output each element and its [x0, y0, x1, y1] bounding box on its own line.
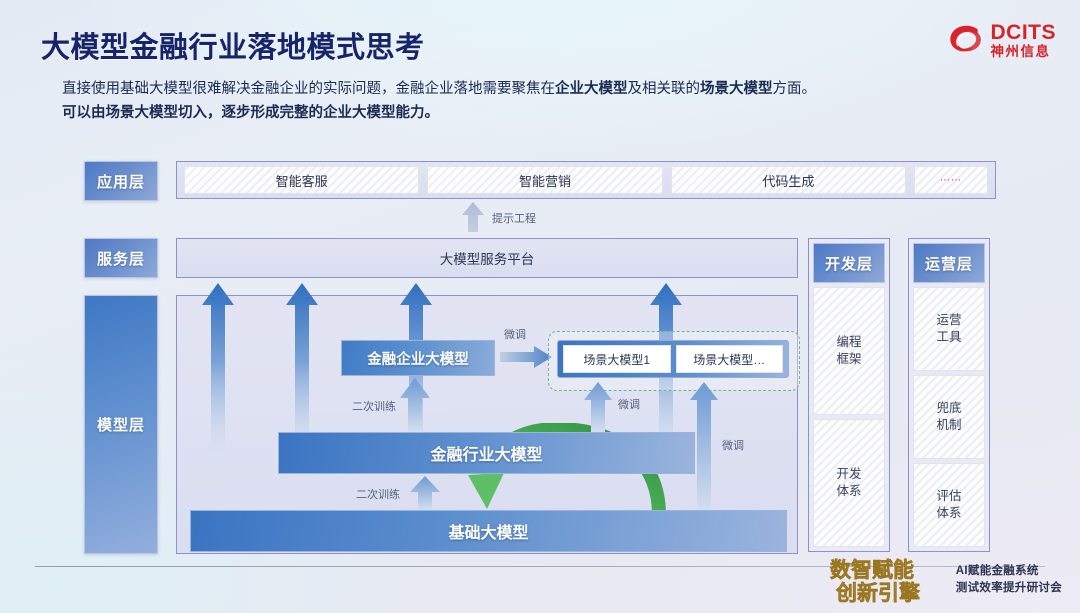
label-prompt-engineering: 提示工程: [492, 210, 536, 226]
ops-cell-2-line-2: 机制: [936, 417, 961, 434]
box-enterprise-model[interactable]: 金融企业大模型: [341, 340, 495, 376]
footer-text-line-1: AI赋能金融系统: [956, 563, 1062, 580]
dev-layer-column: 开发层 编程 框架 开发 体系: [808, 238, 890, 552]
event-logo-line-1: 数智赋能: [830, 558, 914, 582]
ops-cell-1-line-2: 工具: [936, 329, 961, 346]
scene-model-group: 场景大模型1 场景大模型…: [557, 340, 789, 378]
ops-layer-column: 运营层 运营 工具 兜底 机制 评估 体系: [908, 238, 990, 552]
brand-logo: DCITS 神州信息: [948, 22, 1057, 59]
ops-cell-3-line-1: 评估: [936, 488, 961, 505]
arrow-enterprise-to-scene: [500, 346, 552, 368]
label-retrain-1: 二次训练: [352, 398, 396, 414]
arrow-prompt-engineering: [462, 202, 484, 232]
subtitle-line-2: 可以由场景大模型切入，逐步形成完整的企业大模型能力。: [62, 101, 1002, 125]
logo-en: DCITS: [991, 22, 1057, 43]
dev-cell-1-line-1: 编程: [836, 334, 861, 351]
dev-cell-2-line-1: 开发: [836, 466, 861, 483]
box-industry-model[interactable]: 金融行业大模型: [278, 432, 695, 474]
subtitle-seg-4: 场景大模型: [700, 81, 773, 97]
logo-text: DCITS 神州信息: [991, 22, 1057, 59]
architecture-diagram: 应用层 服务层 模型层 智能客服 智能营销 代码生成 ⋯⋯ 提示工程 大模型服务…: [0, 150, 1080, 562]
label-finetune-3: 微调: [722, 437, 744, 453]
label-finetune-1: 微调: [504, 326, 526, 342]
ops-cell-fallback-mechanism[interactable]: 兜底 机制: [913, 375, 985, 459]
label-finetune-2: 微调: [618, 396, 640, 412]
layer-tag-model: 模型层: [84, 295, 158, 554]
arrow-industry-to-scene-1: [584, 382, 612, 434]
dev-cell-1-line-2: 框架: [836, 351, 861, 368]
scene-box-1[interactable]: 场景大模型1: [563, 345, 671, 373]
ops-cell-2-line-1: 兜底: [936, 400, 961, 417]
event-gold-logo: 数智赋能 创新引擎: [828, 555, 946, 605]
service-platform-label: 大模型服务平台: [440, 248, 535, 268]
app-box-marketing[interactable]: 智能营销: [427, 166, 662, 194]
footer: 数智赋能 创新引擎 AI赋能金融系统 测试效率提升研讨会: [828, 555, 1062, 605]
layer-tag-application: 应用层: [84, 161, 158, 201]
arrow-model-to-service-1: [202, 283, 234, 458]
ops-cell-3-line-2: 体系: [936, 505, 961, 522]
subtitle-seg-2: 企业大模型: [555, 81, 628, 97]
app-box-customer-service[interactable]: 智能客服: [184, 166, 419, 194]
application-layer-panel: 智能客服 智能营销 代码生成 ⋯⋯: [176, 161, 996, 199]
arrow-industry-to-enterprise: [400, 378, 430, 434]
ops-layer-head: 运营层: [913, 243, 985, 283]
dev-cell-programming-framework[interactable]: 编程 框架: [813, 287, 885, 415]
app-box-code-generation[interactable]: 代码生成: [671, 166, 906, 194]
ops-cell-operation-tools[interactable]: 运营 工具: [913, 287, 985, 371]
dcits-swirl-icon: [948, 23, 984, 57]
page-title: 大模型金融行业落地模式思考: [41, 24, 425, 66]
footer-text: AI赋能金融系统 测试效率提升研讨会: [956, 563, 1062, 597]
subtitle-seg-1: 直接使用基础大模型很难解决金融企业的实际问题，金融企业落地需要聚焦在: [62, 81, 555, 97]
arrow-base-to-industry: [410, 476, 440, 512]
label-retrain-2: 二次训练: [356, 486, 400, 502]
footer-text-line-2: 测试效率提升研讨会: [956, 580, 1062, 597]
dev-cell-2-line-2: 体系: [836, 483, 861, 500]
ops-cell-1-line-1: 运营: [936, 312, 961, 329]
logo-cn: 神州信息: [991, 45, 1057, 59]
layer-tag-service: 服务层: [84, 238, 158, 278]
dev-layer-head: 开发层: [813, 243, 885, 283]
subtitle-seg-5: 方面。: [773, 81, 817, 97]
subtitle-seg-3: 及相关联的: [628, 81, 701, 97]
ops-cell-evaluation-system[interactable]: 评估 体系: [913, 463, 985, 547]
box-base-model[interactable]: 基础大模型: [190, 510, 787, 552]
slide-root: 大模型金融行业落地模式思考 直接使用基础大模型很难解决金融企业的实际问题，金融企…: [0, 0, 1080, 613]
dev-cell-dev-system[interactable]: 开发 体系: [813, 419, 885, 547]
app-box-more[interactable]: ⋯⋯: [914, 166, 988, 194]
scene-box-2[interactable]: 场景大模型…: [676, 345, 784, 373]
service-layer-panel: 大模型服务平台: [176, 238, 798, 278]
page-subtitle: 直接使用基础大模型很难解决金融企业的实际问题，金融企业落地需要聚焦在企业大模型及…: [62, 77, 1002, 125]
event-logo-line-2: 创新引擎: [835, 581, 920, 605]
